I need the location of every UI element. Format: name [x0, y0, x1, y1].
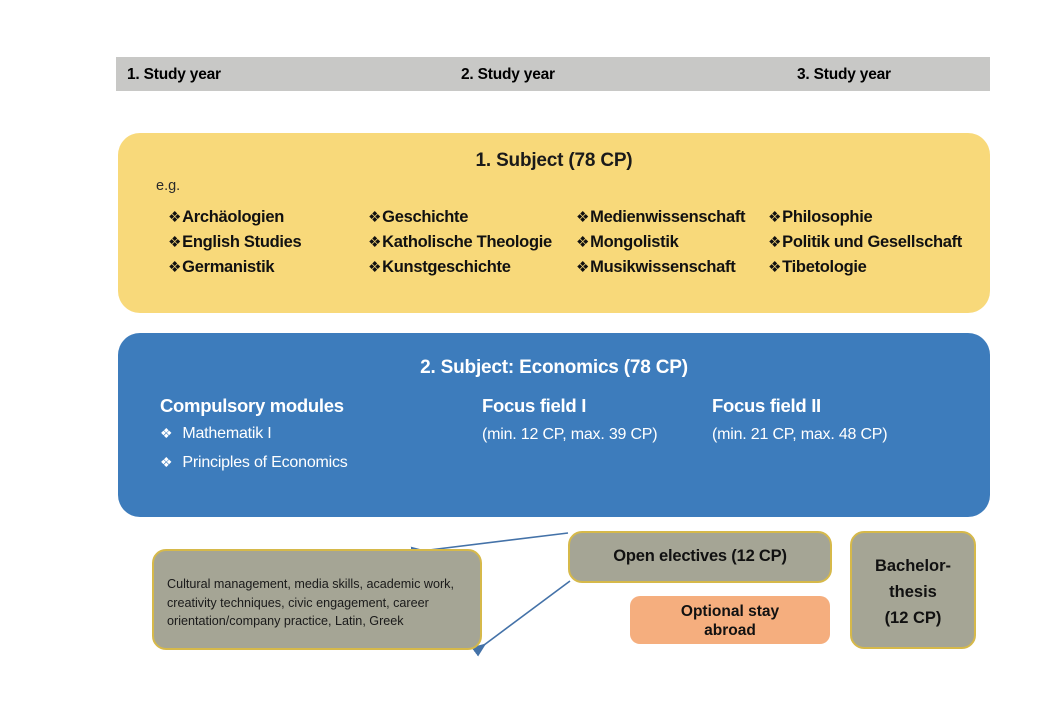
subject-option: ❖Germanistik [168, 255, 368, 280]
optional-stay-abroad-box: Optional stay abroad [630, 596, 830, 644]
subject-option-label: Politik und Gesellschaft [782, 233, 962, 251]
bachelor-thesis-box: Bachelor- thesis (12 CP) [850, 531, 976, 649]
diamond-bullet-icon: ❖ [160, 425, 182, 441]
subject-option: ❖Politik und Gesellschaft [768, 230, 978, 255]
subject-option-label: Geschichte [382, 208, 468, 226]
focus-field-2-heading: Focus field II [712, 395, 942, 417]
subject-option: ❖Geschichte [368, 205, 576, 230]
electives-description-text: Cultural management, media skills, acade… [167, 575, 467, 631]
open-electives-box: Open electives (12 CP) [568, 531, 832, 583]
diamond-bullet-icon: ❖ [368, 209, 382, 226]
diamond-bullet-icon: ❖ [168, 259, 182, 276]
subject-option-label: Tibetologie [782, 258, 866, 276]
diamond-bullet-icon: ❖ [768, 209, 782, 226]
diagram-canvas: 1. Study year 2. Study year 3. Study yea… [0, 0, 1040, 720]
subject-2-title: 2. Subject: Economics (78 CP) [118, 357, 990, 379]
focus-field-2-credits: (min. 21 CP, max. 48 CP) [712, 426, 942, 444]
compulsory-module-label: Principles of Economics [182, 454, 347, 471]
compulsory-module-item: ❖Principles of Economics [160, 450, 460, 475]
subject-option: ❖Musikwissenschaft [576, 255, 768, 280]
subject-option-label: Kunstgeschichte [382, 258, 510, 276]
diamond-bullet-icon: ❖ [576, 234, 590, 251]
subject-1-panel: 1. Subject (78 CP) e.g. ❖Archäologien ❖E… [118, 133, 990, 313]
diamond-bullet-icon: ❖ [160, 454, 182, 470]
subject-option-label: Mongolistik [590, 233, 678, 251]
subject-option: ❖Archäologien [168, 205, 368, 230]
subject-option: ❖Katholische Theologie [368, 230, 576, 255]
diamond-bullet-icon: ❖ [168, 209, 182, 226]
bachelor-thesis-line-1: Bachelor- [852, 553, 974, 579]
optional-stay-abroad-label: Optional stay abroad [630, 602, 830, 640]
study-year-3-label: 3. Study year [797, 66, 891, 84]
subject-option: ❖Philosophie [768, 205, 978, 230]
bachelor-thesis-label: Bachelor- thesis (12 CP) [852, 553, 974, 631]
subject-option: ❖Medienwissenschaft [576, 205, 768, 230]
subject-option-label: Medienwissenschaft [590, 208, 745, 226]
open-electives-label: Open electives (12 CP) [570, 547, 830, 566]
bachelor-thesis-line-2: thesis [852, 579, 974, 605]
diamond-bullet-icon: ❖ [576, 209, 590, 226]
study-year-1-label: 1. Study year [127, 66, 221, 84]
diamond-bullet-icon: ❖ [368, 234, 382, 251]
diamond-bullet-icon: ❖ [768, 234, 782, 251]
focus-field-1-heading: Focus field I [482, 395, 692, 417]
focus-field-1-group: Focus field I (min. 12 CP, max. 39 CP) [482, 395, 692, 444]
subject-option: ❖English Studies [168, 230, 368, 255]
subject-1-columns: ❖Archäologien ❖English Studies ❖Germanis… [168, 205, 988, 280]
subject-option-label: Archäologien [182, 208, 284, 226]
diamond-bullet-icon: ❖ [576, 259, 590, 276]
subject-option-label: Philosophie [782, 208, 872, 226]
subject-option-label: Germanistik [182, 258, 274, 276]
compulsory-module-item: ❖Mathematik I [160, 421, 460, 446]
arrow-to-electives-bottom [476, 581, 570, 651]
subject-1-column-4: ❖Philosophie ❖Politik und Gesellschaft ❖… [768, 205, 978, 280]
bachelor-thesis-line-3: (12 CP) [852, 605, 974, 631]
study-year-header-bar: 1. Study year 2. Study year 3. Study yea… [116, 57, 990, 91]
subject-option: ❖Mongolistik [576, 230, 768, 255]
subject-option: ❖Tibetologie [768, 255, 978, 280]
subject-option-label: Musikwissenschaft [590, 258, 735, 276]
eg-label: e.g. [156, 178, 180, 194]
optional-stay-abroad-line-1: Optional stay [630, 602, 830, 621]
compulsory-module-label: Mathematik I [182, 425, 271, 442]
subject-1-column-1: ❖Archäologien ❖English Studies ❖Germanis… [168, 205, 368, 280]
diamond-bullet-icon: ❖ [768, 259, 782, 276]
diamond-bullet-icon: ❖ [168, 234, 182, 251]
subject-1-column-2: ❖Geschichte ❖Katholische Theologie ❖Kuns… [368, 205, 576, 280]
focus-field-2-group: Focus field II (min. 21 CP, max. 48 CP) [712, 395, 942, 444]
subject-option-label: Katholische Theologie [382, 233, 552, 251]
diamond-bullet-icon: ❖ [368, 259, 382, 276]
optional-stay-abroad-line-2: abroad [630, 621, 830, 640]
study-year-2-label: 2. Study year [461, 66, 555, 84]
electives-description-box: Cultural management, media skills, acade… [152, 549, 482, 650]
subject-1-column-3: ❖Medienwissenschaft ❖Mongolistik ❖Musikw… [576, 205, 768, 280]
subject-option: ❖Kunstgeschichte [368, 255, 576, 280]
focus-field-1-credits: (min. 12 CP, max. 39 CP) [482, 426, 692, 444]
subject-2-panel: 2. Subject: Economics (78 CP) Compulsory… [118, 333, 990, 517]
compulsory-modules-heading: Compulsory modules [160, 395, 460, 417]
subject-option-label: English Studies [182, 233, 301, 251]
subject-1-title: 1. Subject (78 CP) [118, 150, 990, 172]
compulsory-modules-group: Compulsory modules ❖Mathematik I ❖Princi… [160, 395, 460, 475]
